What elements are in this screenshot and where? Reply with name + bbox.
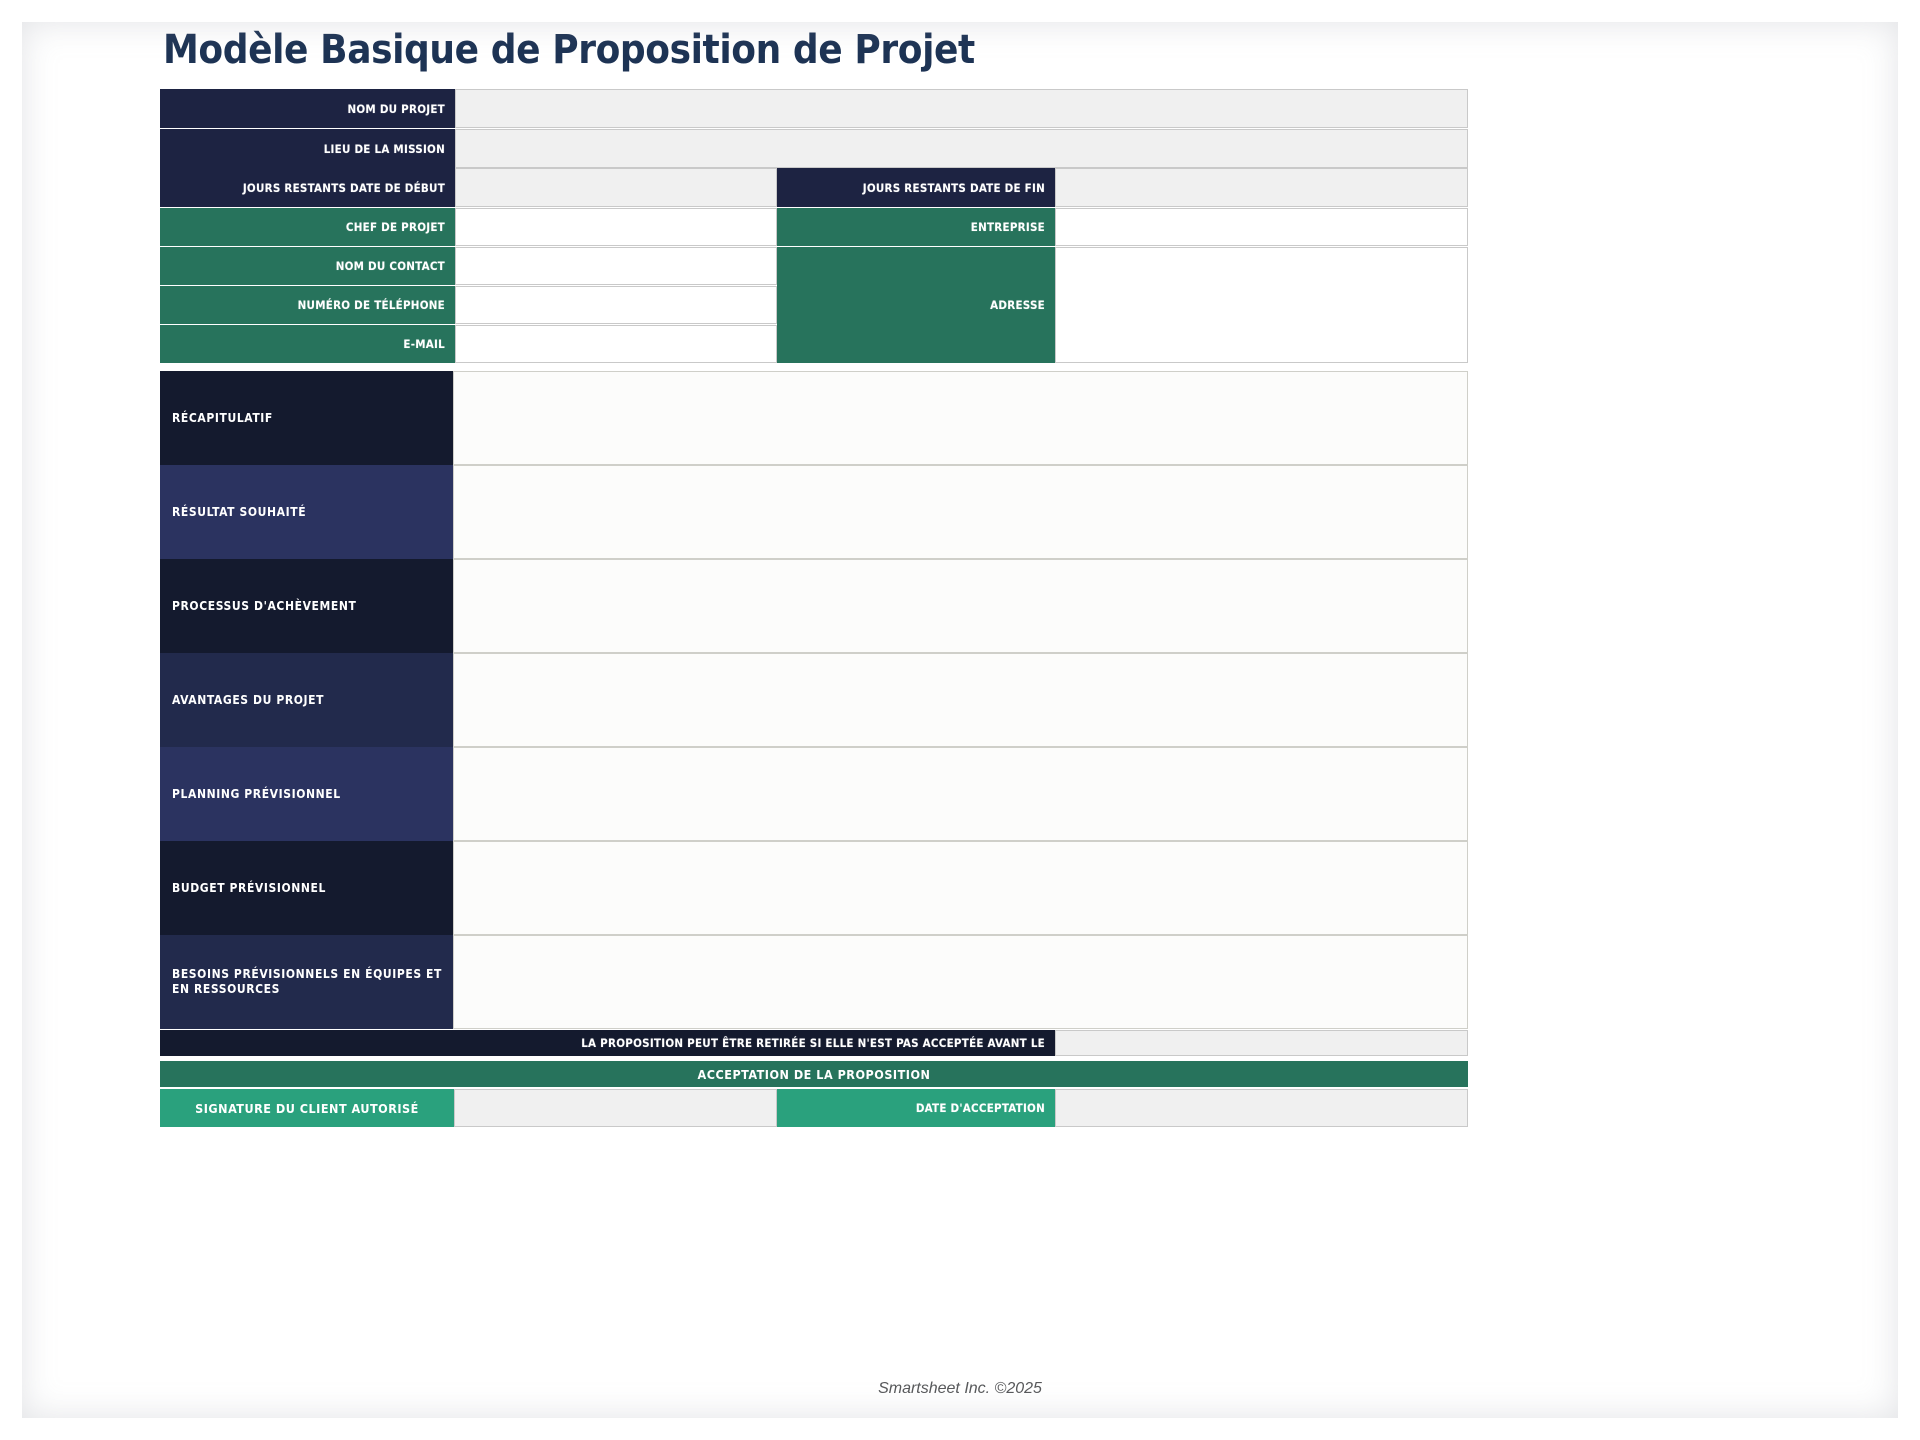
footer-copyright: Smartsheet Inc. ©2025 — [26, 1380, 1894, 1398]
input-processus-d-achevement[interactable] — [453, 559, 1468, 653]
input-nom-du-contact[interactable] — [455, 247, 777, 285]
label-e-mail: E-MAIL — [160, 325, 455, 363]
label-nom-du-contact: NOM DU CONTACT — [160, 247, 455, 285]
label-adresse: ADRESSE — [777, 247, 1055, 363]
input-numero-de-telephone[interactable] — [455, 286, 777, 324]
input-recapitulatif[interactable] — [453, 371, 1468, 465]
label-planning-previsionnel: PLANNING PRÉVISIONNEL — [160, 747, 453, 841]
input-jours-restants-date-de-fin[interactable] — [1055, 168, 1468, 207]
label-chef-de-projet: CHEF DE PROJET — [160, 208, 455, 246]
label-numero-de-telephone: NUMÉRO DE TÉLÉPHONE — [160, 286, 455, 324]
input-adresse[interactable] — [1055, 247, 1468, 363]
label-besoins-previsionnels: BESOINS PRÉVISIONNELS EN ÉQUIPES ET EN R… — [160, 935, 453, 1029]
input-planning-previsionnel[interactable] — [453, 747, 1468, 841]
label-jours-restants-date-de-fin: JOURS RESTANTS DATE DE FIN — [777, 168, 1055, 207]
label-processus-d-achevement: PROCESSUS D'ACHÈVEMENT — [160, 559, 453, 653]
label-entreprise: ENTREPRISE — [777, 208, 1055, 246]
input-e-mail[interactable] — [455, 325, 777, 363]
input-lieu-de-la-mission[interactable] — [455, 129, 1468, 168]
input-nom-du-projet[interactable] — [455, 89, 1468, 128]
input-resultat-souhaite[interactable] — [453, 465, 1468, 559]
input-chef-de-projet[interactable] — [455, 208, 777, 246]
template-sheet: Modèle Basique de Proposition de Projet … — [26, 0, 1894, 1440]
label-lieu-de-la-mission: LIEU DE LA MISSION — [160, 129, 455, 168]
input-signature-du-client-autorise[interactable] — [454, 1089, 777, 1127]
document-page: Modèle Basique de Proposition de Projet … — [0, 0, 1920, 1440]
input-budget-previsionnel[interactable] — [453, 841, 1468, 935]
input-avantages-du-projet[interactable] — [453, 653, 1468, 747]
label-budget-previsionnel: BUDGET PRÉVISIONNEL — [160, 841, 453, 935]
label-resultat-souhaite: RÉSULTAT SOUHAITÉ — [160, 465, 453, 559]
input-proposition-expiration[interactable] — [1055, 1030, 1468, 1056]
label-recapitulatif: RÉCAPITULATIF — [160, 371, 453, 465]
label-jours-restants-date-de-debut: JOURS RESTANTS DATE DE DÉBUT — [160, 168, 455, 207]
label-signature-du-client-autorise: SIGNATURE DU CLIENT AUTORISÉ — [160, 1089, 454, 1127]
label-nom-du-projet: NOM DU PROJET — [160, 89, 455, 128]
label-avantages-du-projet: AVANTAGES DU PROJET — [160, 653, 453, 747]
input-besoins-previsionnels[interactable] — [453, 935, 1468, 1029]
input-entreprise[interactable] — [1055, 208, 1468, 246]
page-title: Modèle Basique de Proposition de Projet — [163, 27, 975, 73]
input-jours-restants-date-de-debut[interactable] — [455, 168, 777, 207]
label-proposition-expiration: LA PROPOSITION PEUT ÊTRE RETIRÉE SI ELLE… — [160, 1030, 1055, 1056]
banner-acceptation-de-la-proposition: ACCEPTATION DE LA PROPOSITION — [160, 1061, 1468, 1087]
input-date-d-acceptation[interactable] — [1055, 1089, 1468, 1127]
label-date-d-acceptation: DATE D'ACCEPTATION — [777, 1089, 1055, 1127]
